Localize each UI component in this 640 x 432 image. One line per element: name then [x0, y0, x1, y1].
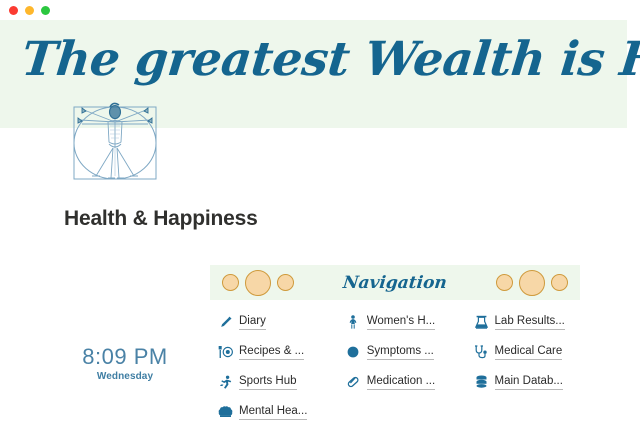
navigation-column: Lab Results... Medical Care — [474, 312, 580, 432]
decor-circle-large — [519, 270, 545, 296]
nav-link-label: Diary — [239, 314, 266, 330]
window-titlebar — [0, 0, 640, 20]
nav-link-womens-health[interactable]: Women's H... — [346, 312, 474, 331]
clock-widget: 8:09 PM Wednesday — [68, 345, 182, 382]
clock-day: Wednesday — [68, 371, 182, 382]
decorative-circles-left — [222, 270, 294, 296]
navigation-title: Navigation — [342, 273, 448, 293]
hero-title: The greatest Wealth is Health — [20, 36, 625, 83]
nav-link-medication[interactable]: Medication ... — [346, 372, 474, 391]
nav-link-label: Recipes & ... — [239, 344, 304, 360]
decor-circle-small — [551, 274, 568, 291]
runner-icon — [218, 374, 233, 389]
female-figure-icon — [346, 314, 361, 329]
decor-circle-small — [222, 274, 239, 291]
navigation-card: Navigation Diary — [210, 265, 580, 432]
window-controls — [9, 6, 50, 15]
decorative-circles-right — [496, 270, 568, 296]
brain-icon — [218, 404, 233, 419]
nav-link-label: Main Datab... — [495, 374, 563, 390]
nav-link-recipes[interactable]: Recipes & ... — [218, 342, 346, 361]
nav-link-label: Sports Hub — [239, 374, 297, 390]
navigation-column: Women's H... Symptoms ... Medicatio — [346, 312, 474, 432]
pill-capsule-icon — [346, 374, 361, 389]
nav-link-symptoms[interactable]: Symptoms ... — [346, 342, 474, 361]
decor-circle-large — [245, 270, 271, 296]
clock-time: 8:09 PM — [68, 345, 182, 369]
nav-link-label: Lab Results... — [495, 314, 565, 330]
navigation-links: Diary Recipes & ... — [210, 300, 580, 432]
nav-link-medical-care[interactable]: Medical Care — [474, 342, 580, 361]
nav-link-main-database[interactable]: Main Datab... — [474, 372, 580, 391]
database-icon — [474, 374, 489, 389]
nav-link-label: Symptoms ... — [367, 344, 434, 360]
page-title: Health & Happiness — [64, 207, 258, 231]
nav-link-label: Mental Hea... — [239, 404, 307, 420]
flask-icon — [474, 314, 489, 329]
nav-link-sports-hub[interactable]: Sports Hub — [218, 372, 346, 391]
decor-circle-small — [277, 274, 294, 291]
nav-link-label: Medical Care — [495, 344, 563, 360]
decor-circle-small — [496, 274, 513, 291]
vitruvian-man-icon — [58, 98, 174, 182]
nav-link-mental-health[interactable]: Mental Hea... — [218, 402, 346, 421]
nav-link-diary[interactable]: Diary — [218, 312, 346, 331]
nav-link-label: Women's H... — [367, 314, 435, 330]
close-window-button[interactable] — [9, 6, 18, 15]
minimize-window-button[interactable] — [25, 6, 34, 15]
nav-link-label: Medication ... — [367, 374, 435, 390]
navigation-column: Diary Recipes & ... — [218, 312, 346, 432]
navigation-header: Navigation — [210, 265, 580, 300]
pencil-icon — [218, 314, 233, 329]
nav-link-lab-results[interactable]: Lab Results... — [474, 312, 580, 331]
stethoscope-icon — [474, 344, 489, 359]
fork-plate-icon — [218, 344, 233, 359]
circle-filled-icon — [346, 344, 361, 359]
maximize-window-button[interactable] — [41, 6, 50, 15]
